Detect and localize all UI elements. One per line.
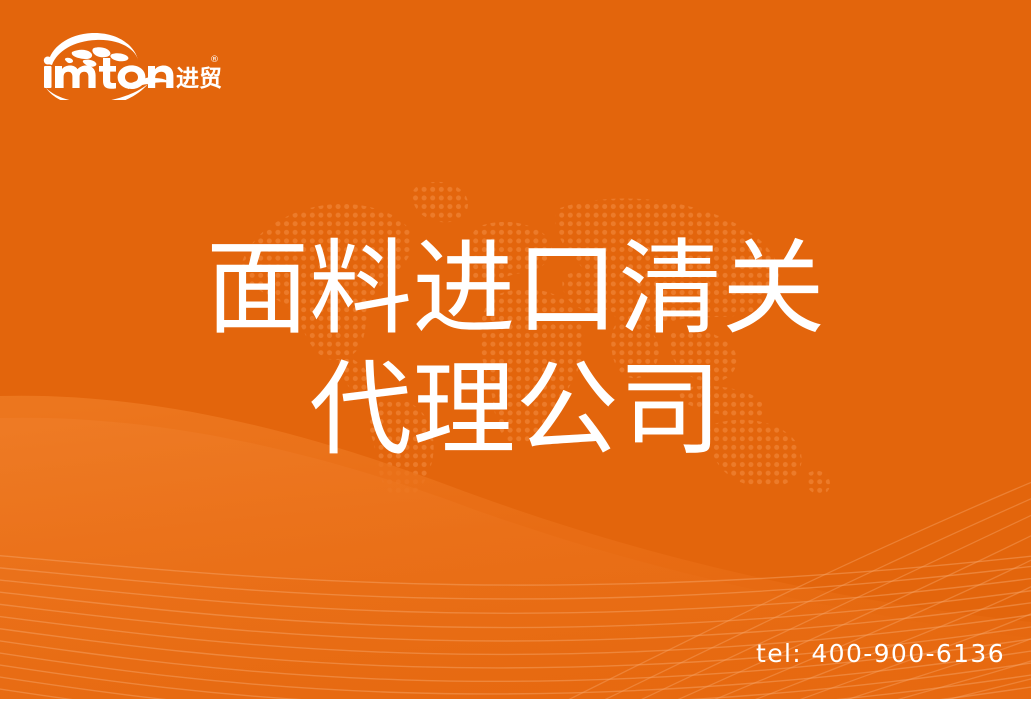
page-title: 面料进口清关 代理公司 [0,232,1031,469]
logo-wordmark-chinese: 进贸通 [176,66,222,92]
headline-line-2: 代理公司 [0,353,1031,468]
logo-wordmark-latin [44,57,174,90]
bottom-edge-strip [0,699,1031,704]
contact-phone: tel: 400-900-6136 [756,639,1005,668]
headline-line-1: 面料进口清关 [0,232,1031,347]
registered-mark: ® [210,55,219,65]
promo-banner: 进贸通 ® 面料进口清关 代理公司 tel: 400-900-6136 [0,0,1031,704]
globe-arc-icon [48,33,138,67]
brand-logo[interactable]: 进贸通 ® [42,28,222,100]
